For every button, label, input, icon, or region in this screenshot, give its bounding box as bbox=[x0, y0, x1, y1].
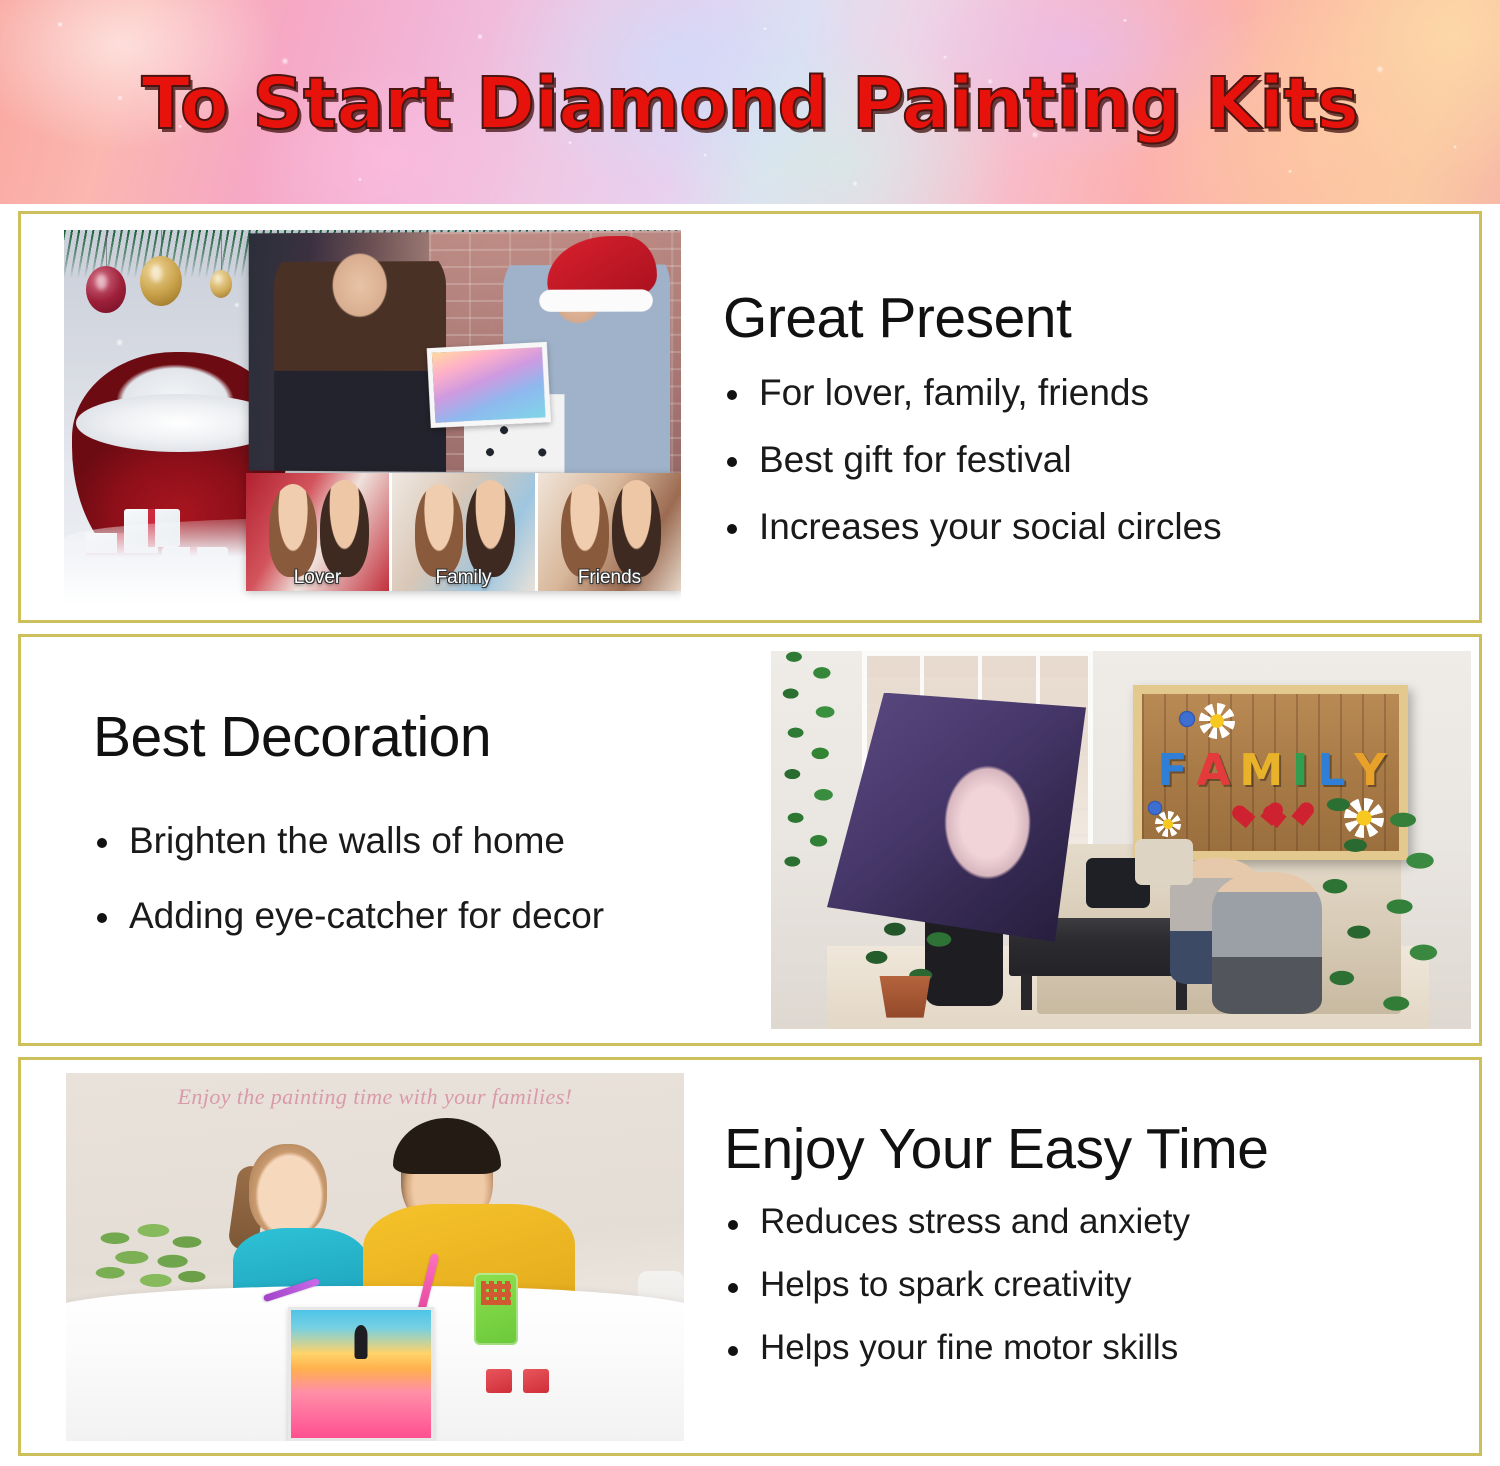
drill-tray bbox=[474, 1273, 518, 1345]
photo-label-family: Family bbox=[392, 567, 535, 589]
photo-cell-family: Family bbox=[389, 473, 535, 591]
diamond-painting-artwork bbox=[426, 341, 550, 427]
panel-3-bullet-list: Reduces stress and anxiety Helps to spar… bbox=[724, 1204, 1479, 1365]
bullet-item: Helps your fine motor skills bbox=[724, 1330, 1479, 1365]
wax-square bbox=[523, 1369, 549, 1393]
ornament-ball bbox=[210, 270, 232, 298]
photo-cell-friends: Friends bbox=[535, 473, 681, 591]
bullet-item: Reduces stress and anxiety bbox=[724, 1204, 1479, 1239]
christmas-gift-exchange-photo: Lover Family Friends bbox=[64, 230, 681, 605]
panel-2-heading: Best Decoration bbox=[93, 708, 771, 766]
hanging-vine-plant bbox=[771, 651, 853, 873]
gift-exchange-inner-photo bbox=[249, 230, 681, 473]
feature-panel-enjoy-your-easy-time: Enjoy the painting time with your famili… bbox=[18, 1057, 1482, 1456]
relationship-photo-strip: Lover Family Friends bbox=[246, 473, 681, 591]
bullet-item: Brighten the walls of home bbox=[93, 822, 771, 859]
panel-3-heading: Enjoy Your Easy Time bbox=[724, 1120, 1479, 1178]
letter-f: F bbox=[1157, 749, 1187, 793]
panel-2-copy: Best Decoration Brighten the walls of ho… bbox=[21, 708, 771, 972]
header-banner: To Start Diamond Painting Kits bbox=[0, 0, 1500, 204]
heart-decoration bbox=[1275, 804, 1303, 830]
photo-caption: Enjoy the painting time with your famili… bbox=[66, 1084, 684, 1110]
panel-1-media: Lover Family Friends bbox=[21, 230, 681, 605]
panel-1-heading: Great Present bbox=[723, 289, 1479, 347]
father-hair bbox=[393, 1118, 501, 1174]
bullet-item: Helps to spark creativity bbox=[724, 1267, 1479, 1302]
sunflower bbox=[335, 1358, 387, 1410]
letter-m: M bbox=[1239, 749, 1283, 793]
photo-cell-lover: Lover bbox=[246, 473, 389, 591]
potted-plant-right bbox=[1301, 774, 1471, 1029]
panel-2-bullet-list: Brighten the walls of home Adding eye-ca… bbox=[93, 822, 771, 934]
panel-3-media: Enjoy the painting time with your famili… bbox=[21, 1073, 684, 1441]
living-room-wall-art-photo: F A M I L Y bbox=[771, 651, 1471, 1029]
photo-label-lover: Lover bbox=[246, 567, 389, 589]
ornament-ball bbox=[86, 266, 126, 313]
panel-3-copy: Enjoy Your Easy Time Reduces stress and … bbox=[684, 1120, 1479, 1393]
father-daughter-painting-photo: Enjoy the painting time with your famili… bbox=[66, 1073, 684, 1441]
photo-label-friends: Friends bbox=[538, 567, 681, 589]
wax-square bbox=[486, 1369, 512, 1393]
bullet-item: Adding eye-catcher for decor bbox=[93, 897, 771, 934]
panel-1-bullet-list: For lover, family, friends Best gift for… bbox=[723, 374, 1479, 545]
feature-panel-best-decoration: F A M I L Y bbox=[18, 634, 1482, 1046]
cornflower bbox=[1178, 710, 1196, 728]
bullet-item: Increases your social circles bbox=[723, 508, 1479, 545]
letter-a: A bbox=[1196, 749, 1230, 793]
ornament-ball bbox=[140, 256, 182, 306]
sunflower-diamond-painting bbox=[288, 1307, 434, 1441]
daughter-head bbox=[249, 1144, 327, 1236]
bullet-item: Best gift for festival bbox=[723, 441, 1479, 478]
throw-pillow bbox=[1135, 839, 1193, 885]
daisy-flower bbox=[1199, 703, 1235, 739]
bullet-item: For lover, family, friends bbox=[723, 374, 1479, 411]
panel-1-copy: Great Present For lover, family, friends… bbox=[681, 289, 1479, 544]
page-title: To Start Diamond Painting Kits bbox=[0, 62, 1500, 145]
woman-giving-gift bbox=[274, 232, 446, 472]
silhouette-figure bbox=[355, 1325, 368, 1359]
feature-panel-great-present: Lover Family Friends Great Present For l… bbox=[18, 211, 1482, 623]
panel-2-media: F A M I L Y bbox=[771, 651, 1479, 1029]
